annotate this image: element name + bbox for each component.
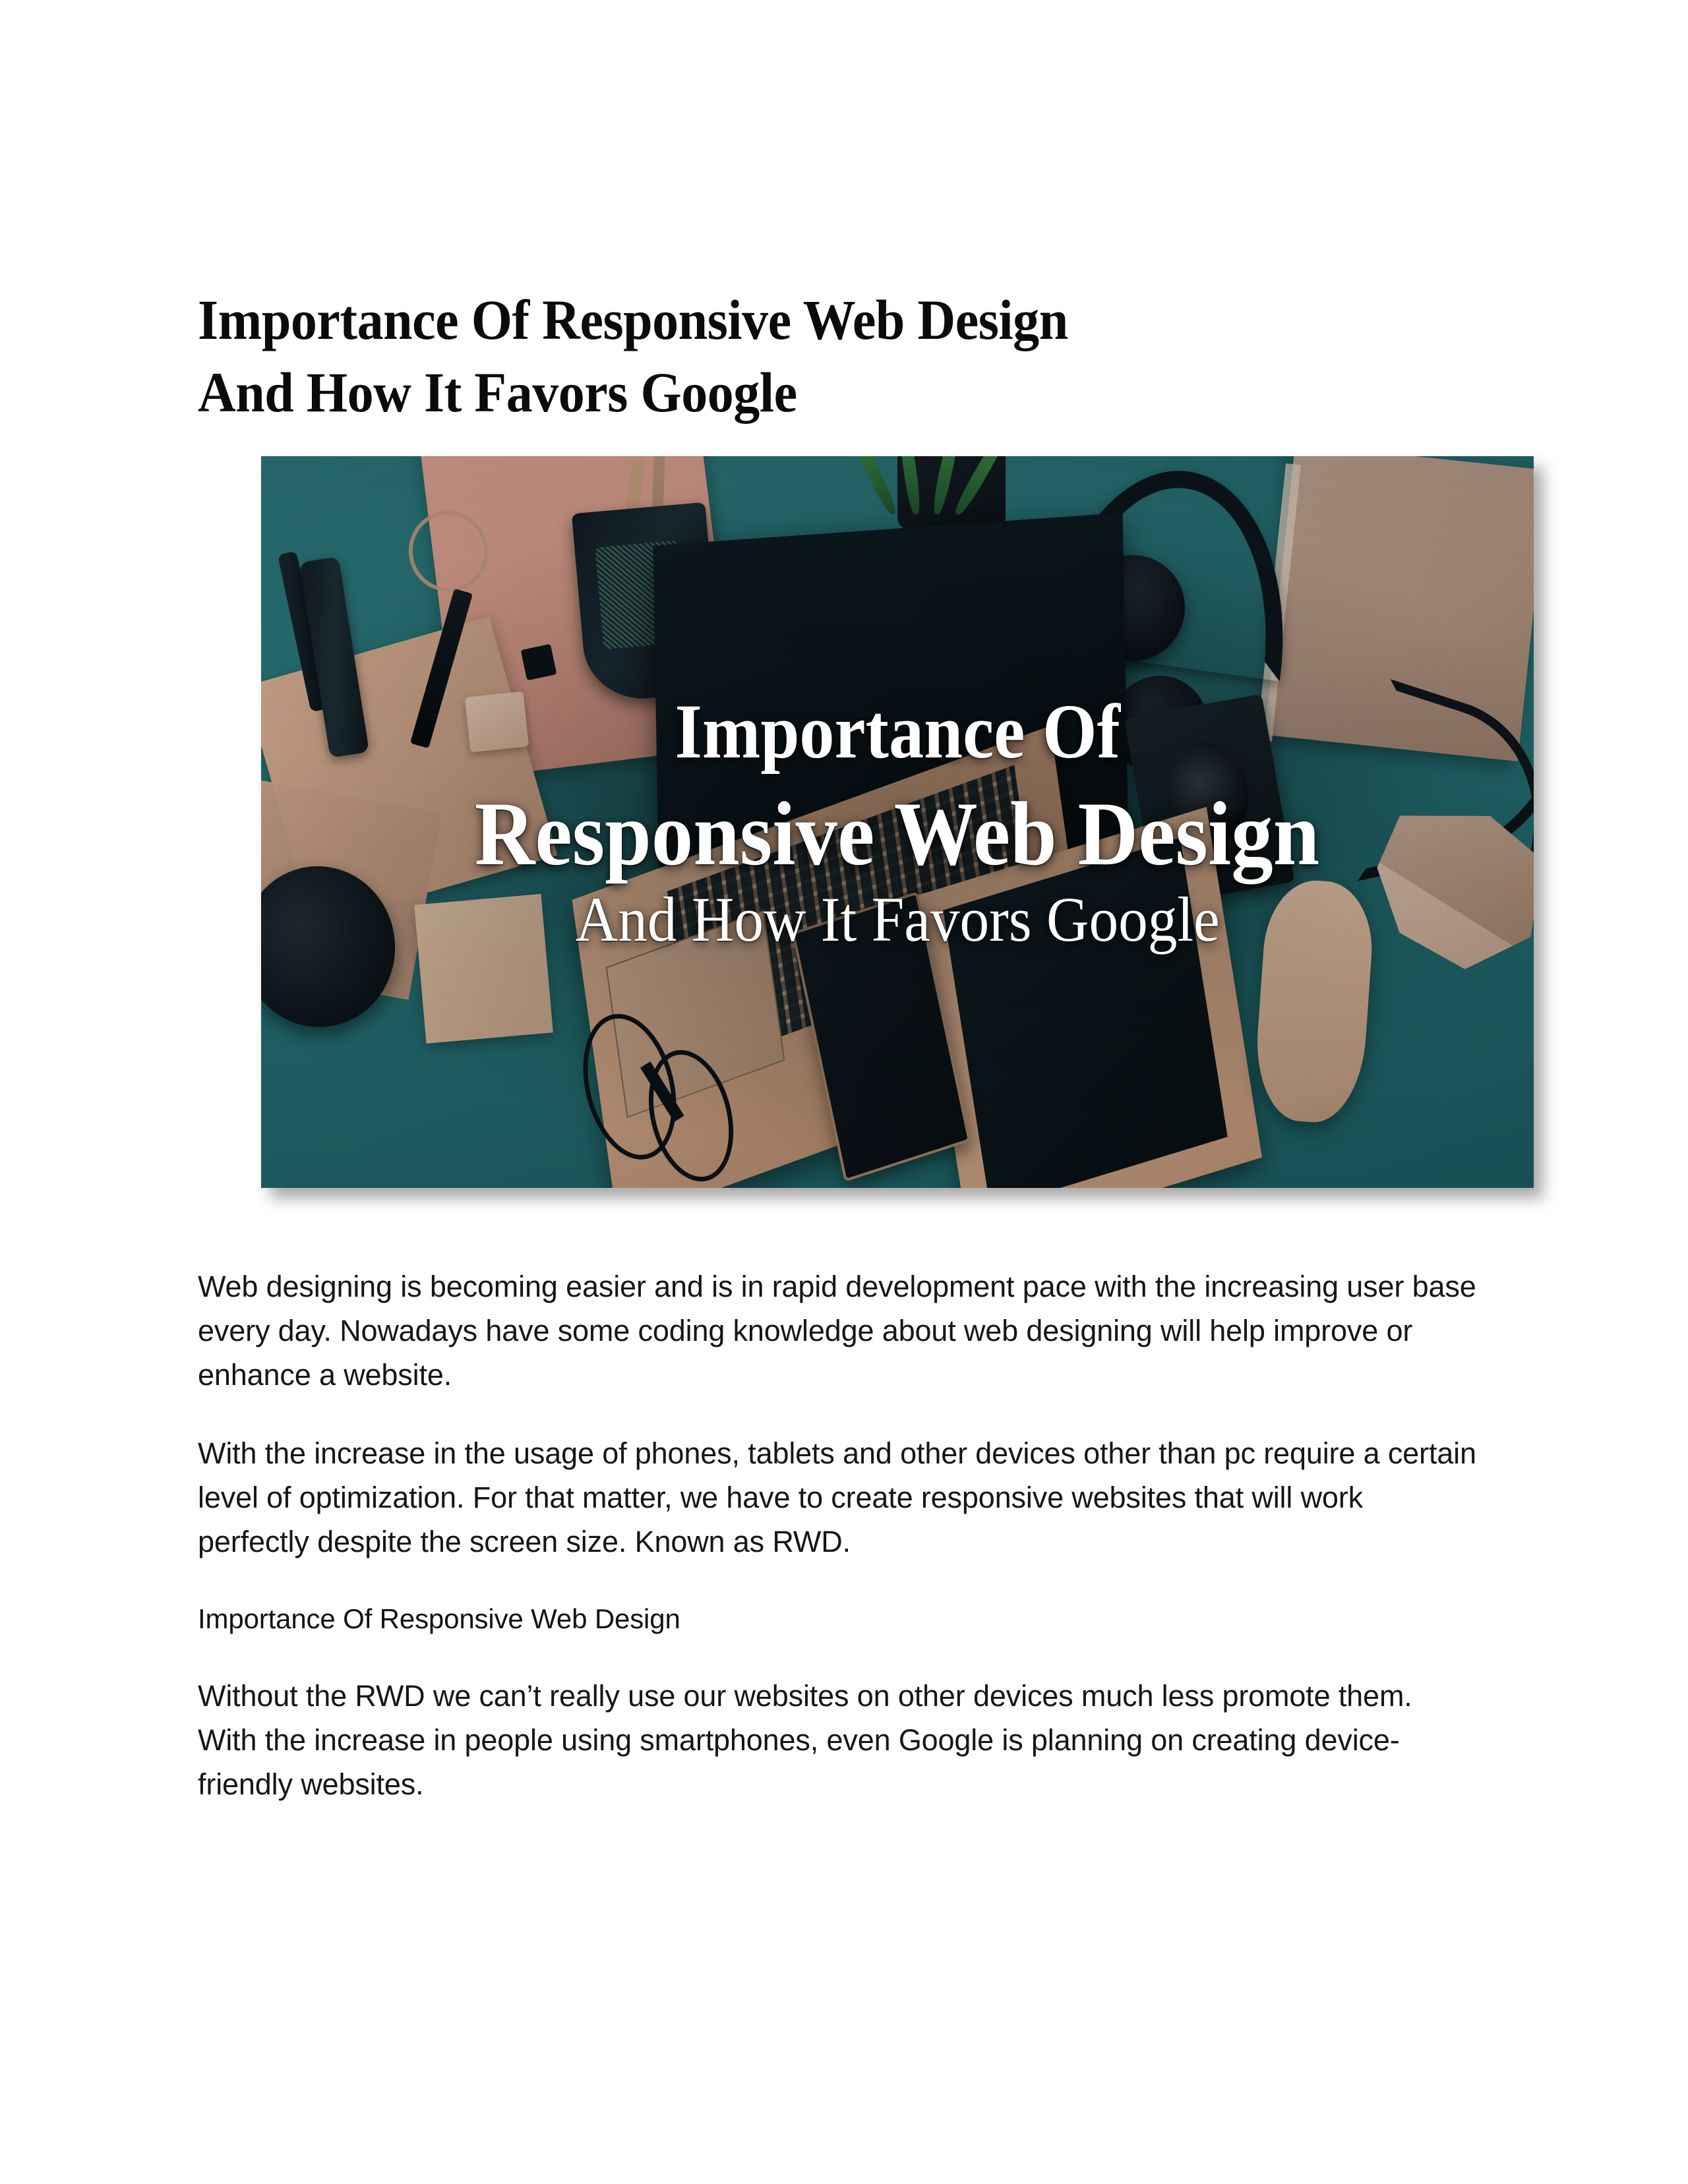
- banner-photo: Importance Of Responsive Web Design And …: [261, 456, 1534, 1188]
- paragraph-2: With the increase in the usage of phones…: [198, 1431, 1477, 1564]
- article-body: Web designing is becoming easier and is …: [198, 1264, 1477, 1806]
- page-title-line-2: And How It Favors Google: [198, 356, 1418, 428]
- sticky-note: [414, 894, 553, 1044]
- page-title-line-1: Importance Of Responsive Web Design: [198, 283, 1418, 356]
- banner-image: Importance Of Responsive Web Design And …: [261, 456, 1534, 1188]
- paragraph-3: Without the RWD we can’t really use our …: [198, 1674, 1477, 1806]
- subheading-importance-of-responsive-web-design: Importance Of Responsive Web Design: [198, 1598, 1477, 1639]
- eraser: [464, 691, 528, 752]
- page-title: Importance Of Responsive Web Design And …: [198, 283, 1418, 428]
- marker: [520, 643, 557, 680]
- paragraph-1: Web designing is becoming easier and is …: [198, 1264, 1477, 1397]
- document-page: Importance Of Responsive Web Design And …: [0, 0, 1688, 2184]
